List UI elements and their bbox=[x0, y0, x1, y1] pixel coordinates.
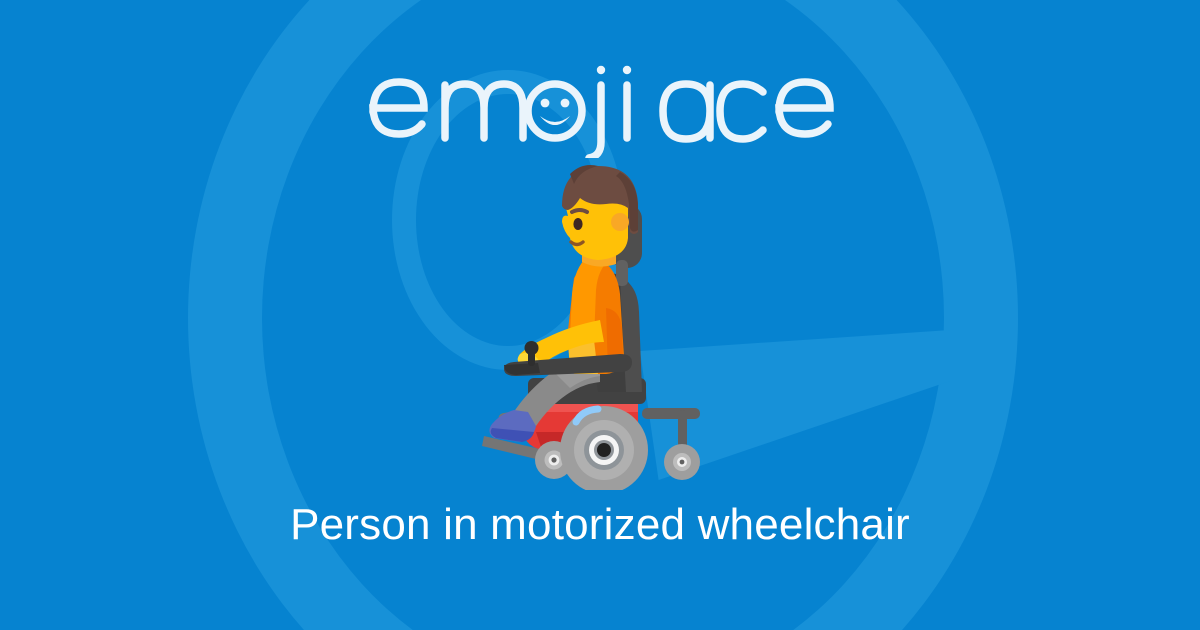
logo-letter-i-dot bbox=[623, 66, 631, 74]
wheel-main-drive bbox=[560, 406, 648, 490]
person-eye bbox=[573, 218, 582, 230]
logo-letter-a bbox=[663, 84, 710, 139]
wheel-caster-rear bbox=[664, 444, 700, 480]
logo-letter-m bbox=[445, 84, 523, 138]
emoji-illustration bbox=[470, 160, 730, 490]
person-eyebrow bbox=[572, 210, 587, 212]
logo-wordmark bbox=[365, 46, 835, 158]
logo-smiley-mouth-fill bbox=[540, 116, 570, 125]
logo-smiley-details bbox=[540, 66, 631, 125]
logo-smiley-icon bbox=[528, 84, 582, 138]
person-in-motorized-wheelchair-icon bbox=[470, 160, 730, 490]
logo-letter-c bbox=[720, 84, 763, 139]
share-card: Person in motorized wheelchair bbox=[0, 0, 1200, 630]
emoji-caption: Person in motorized wheelchair bbox=[0, 500, 1200, 550]
logo-letter-e bbox=[373, 82, 424, 134]
logo-smiley-eye-left bbox=[541, 99, 550, 108]
logo-smiley-eye-right bbox=[561, 99, 570, 108]
person-shoe bbox=[489, 410, 536, 442]
site-logo[interactable] bbox=[0, 48, 1200, 158]
logo-svg bbox=[365, 46, 835, 158]
logo-letter-j bbox=[589, 85, 601, 158]
logo-letter-j-dot bbox=[597, 66, 605, 74]
logo-letter-e2 bbox=[779, 82, 830, 134]
